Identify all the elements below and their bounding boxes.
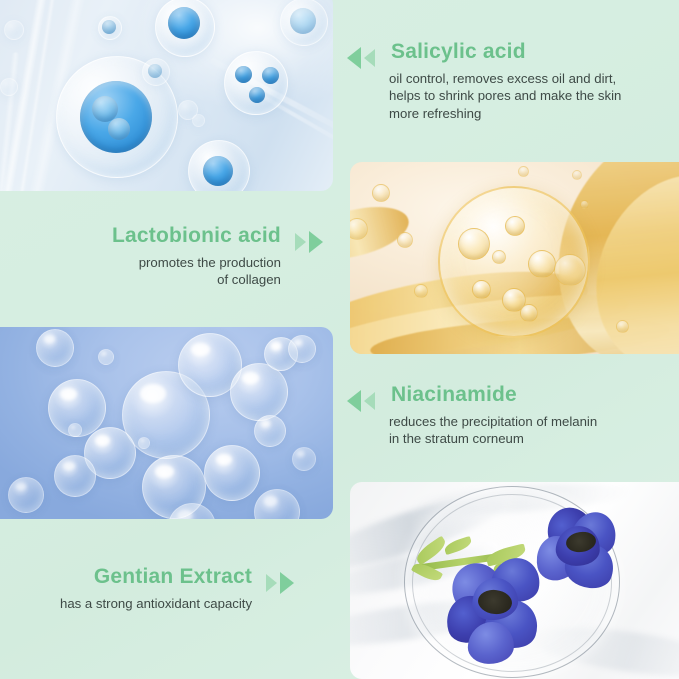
ingredient-infographic: Salicylic acid oil control, removes exce… [0, 0, 679, 679]
ingredient-block-gentian: Gentian Extract has a strong antioxidant… [60, 565, 296, 612]
ingredient-heading: Gentian Extract [60, 565, 252, 589]
water-bubbles-photo [0, 327, 333, 519]
golden-oil-bubble-photo [350, 162, 679, 354]
ingredient-heading: Salicylic acid [391, 40, 621, 64]
double-chevron-left-icon [345, 388, 379, 414]
ingredient-description: reduces the precipitation of melanin in … [389, 413, 597, 448]
gentian-flowers-photo [350, 482, 679, 679]
double-chevron-right-icon [262, 570, 296, 596]
ingredient-block-niacinamide: Niacinamide reduces the precipitation of… [345, 383, 597, 448]
blue-molecule-bubbles-photo [0, 0, 333, 191]
ingredient-heading: Niacinamide [391, 383, 597, 407]
ingredient-heading: Lactobionic acid [112, 224, 281, 248]
ingredient-block-lactobionic: Lactobionic acid promotes the production… [112, 224, 325, 289]
ingredient-description: oil control, removes excess oil and dirt… [389, 70, 621, 123]
ingredient-description: promotes the production of collagen [112, 254, 281, 289]
double-chevron-right-icon [291, 229, 325, 255]
ingredient-description: has a strong antioxidant capacity [60, 595, 252, 613]
double-chevron-left-icon [345, 45, 379, 71]
ingredient-block-salicylic: Salicylic acid oil control, removes exce… [345, 40, 621, 123]
